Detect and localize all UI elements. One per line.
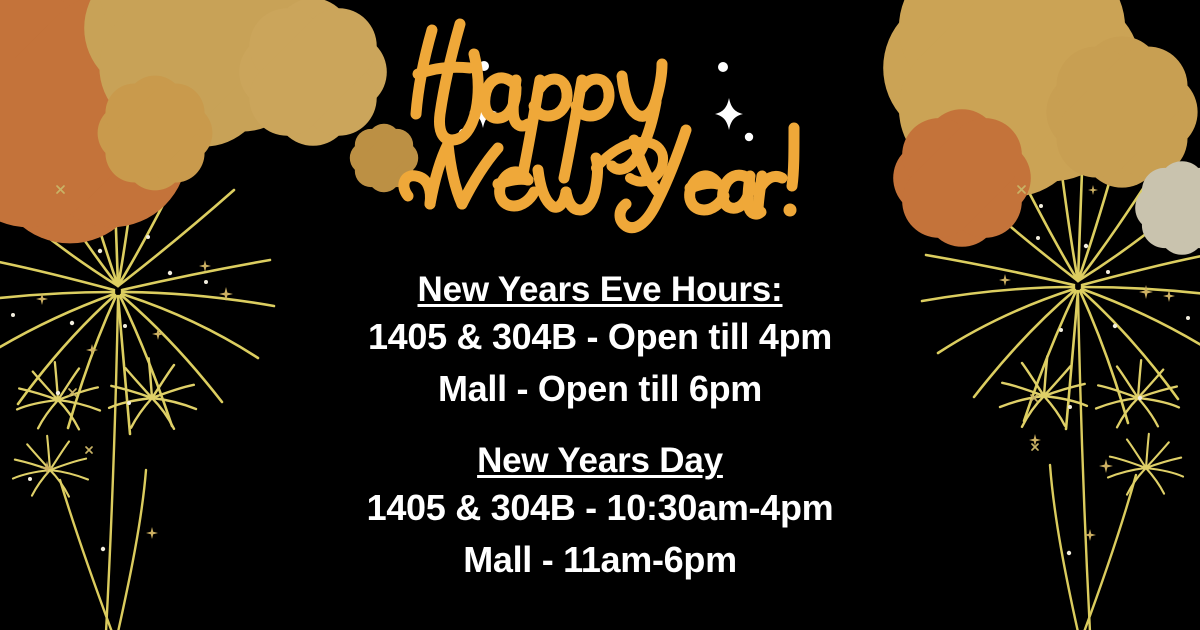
hours-line: 1405 & 304B - 10:30am-4pm — [0, 482, 1200, 534]
new-year-hours-poster: Happy New Year — [0, 0, 1200, 630]
headline-happy-new-year: Happy New Year — [0, 18, 1200, 253]
script-letter-a — [485, 78, 528, 126]
script-letter-exclamation — [792, 128, 794, 186]
script-letter-p1 — [522, 79, 567, 178]
hours-line: Mall - Open till 6pm — [0, 363, 1200, 415]
script-letter-N — [430, 144, 498, 204]
hours-group-heading: New Years Day — [0, 441, 1200, 482]
hours-group-heading: New Years Eve Hours: — [0, 270, 1200, 311]
hours-group-new-years-eve: New Years Eve Hours: 1405 & 304B - Open … — [0, 270, 1200, 415]
hours-line: 1405 & 304B - Open till 4pm — [0, 311, 1200, 363]
hours-group-new-years-day: New Years Day 1405 & 304B - 10:30am-4pm … — [0, 441, 1200, 586]
hours-line: Mall - 11am-6pm — [0, 534, 1200, 586]
script-exclamation-dot — [784, 204, 797, 217]
script-letter-e — [498, 172, 534, 206]
hours-information-block: New Years Eve Hours: 1405 & 304B - Open … — [0, 270, 1200, 587]
script-letter-H — [416, 24, 478, 140]
script-letter-r — [758, 176, 782, 210]
headline-script-artwork: Happy New Year — [390, 18, 810, 248]
